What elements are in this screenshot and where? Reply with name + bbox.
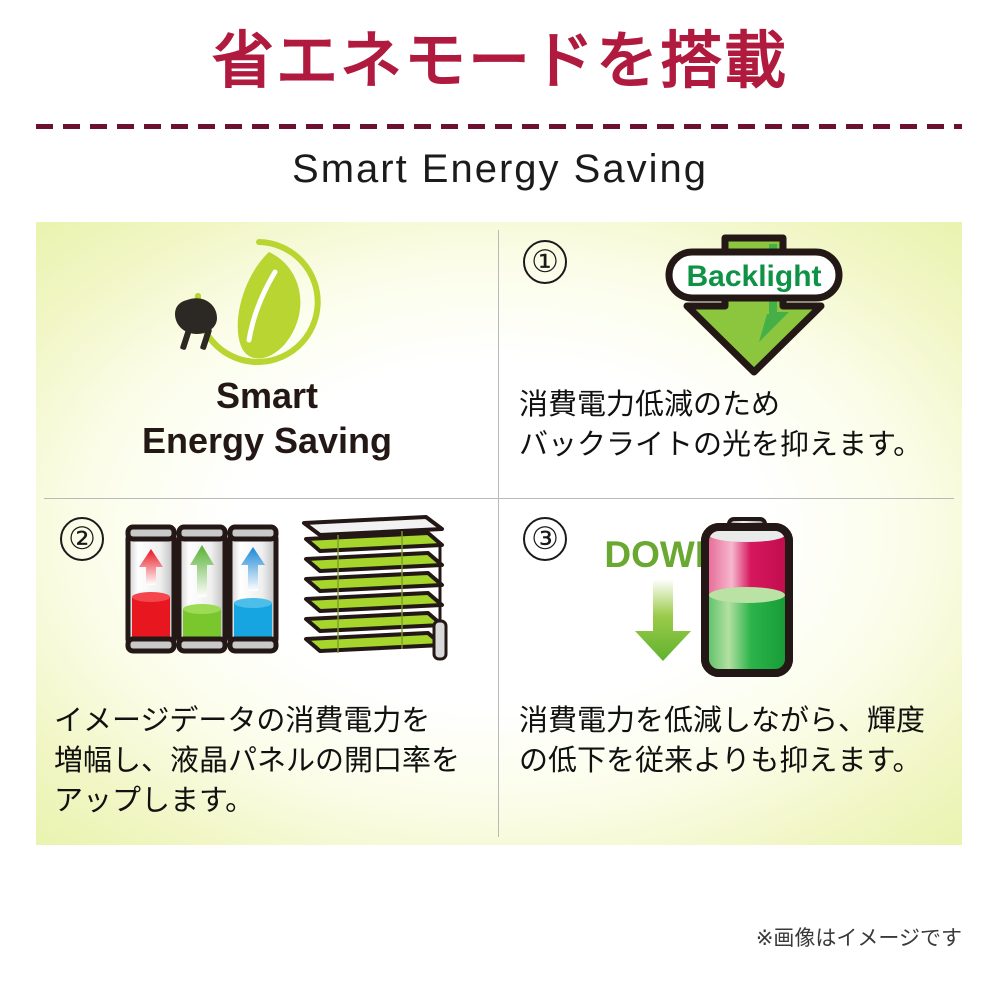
panel-step-3: ③ DOWN (499, 499, 962, 845)
footer-note: ※画像はイメージです (756, 922, 962, 952)
logo-line-1: Smart (216, 375, 318, 416)
step-3-caption: 消費電力を低減しながら、輝度 の低下を従来よりも抑えます。 (519, 701, 963, 781)
rgb-cylinders-icon (122, 519, 282, 664)
panel-step-1: ① Backlight 消費電力低減のため バックライトの光を抑えます。 (499, 222, 962, 498)
logo-line-2: Energy Saving (142, 420, 392, 461)
eco-leaf-plug-icon (151, 234, 371, 374)
step-number-2: ② (60, 517, 104, 561)
panel-step-2: ② (36, 499, 498, 845)
backlight-down-arrow-icon: Backlight (649, 230, 859, 380)
page-subtitle: Smart Energy Saving (0, 147, 1000, 192)
page-root: 省エネモードを搭載 Smart Energy Saving (0, 0, 1000, 1000)
feature-grid: SmartEnergy Saving ① Backlight 消費電力低減のため… (36, 222, 962, 845)
backlight-badge-label: Backlight (686, 260, 821, 293)
battery-icon (687, 515, 807, 680)
step-2-caption: イメージデータの消費電力を 増幅し、液晶パネルの開口率を アップします。 (54, 701, 502, 821)
step-number-3: ③ (523, 517, 567, 561)
page-title: 省エネモードを搭載 (0, 28, 1000, 96)
logo-wordmark: SmartEnergy Saving (36, 374, 498, 463)
panel-logo: SmartEnergy Saving (36, 222, 498, 498)
title-dashed-divider (36, 124, 962, 129)
step-number-1: ① (523, 240, 567, 284)
step-1-caption: 消費電力低減のため バックライトの光を抑えます。 (519, 385, 959, 465)
window-blind-icon (296, 513, 456, 668)
